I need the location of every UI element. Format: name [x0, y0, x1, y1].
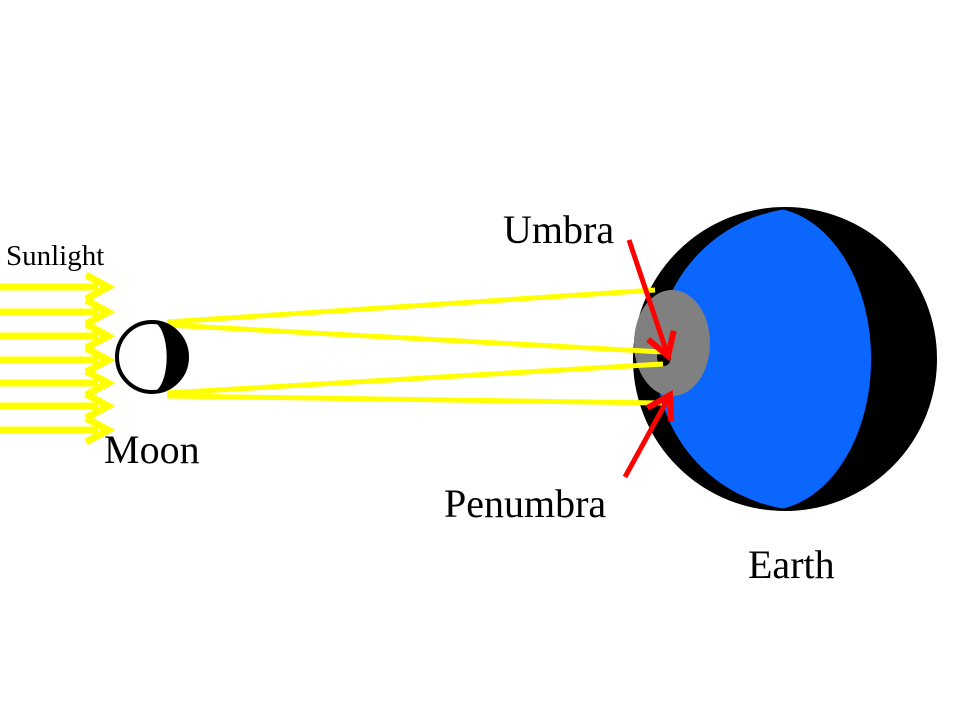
diagram-canvas: Sunlight Moon Umbra Penumbra Earth: [0, 0, 959, 719]
sunlight-arrow-group: [0, 275, 108, 442]
moon-group: [117, 322, 187, 392]
ray-bottom-outer: [167, 396, 662, 403]
label-moon: Moon: [104, 427, 200, 472]
ray-bottom-inner: [167, 364, 663, 393]
ray-top-inner: [167, 325, 663, 352]
label-penumbra: Penumbra: [444, 481, 606, 526]
tangent-ray-group: [167, 290, 663, 403]
label-umbra: Umbra: [503, 207, 614, 252]
ray-top-outer: [167, 290, 655, 322]
label-sunlight: Sunlight: [6, 240, 104, 272]
eclipse-diagram: Sunlight Moon Umbra Penumbra Earth: [0, 0, 959, 719]
label-earth: Earth: [748, 542, 835, 587]
